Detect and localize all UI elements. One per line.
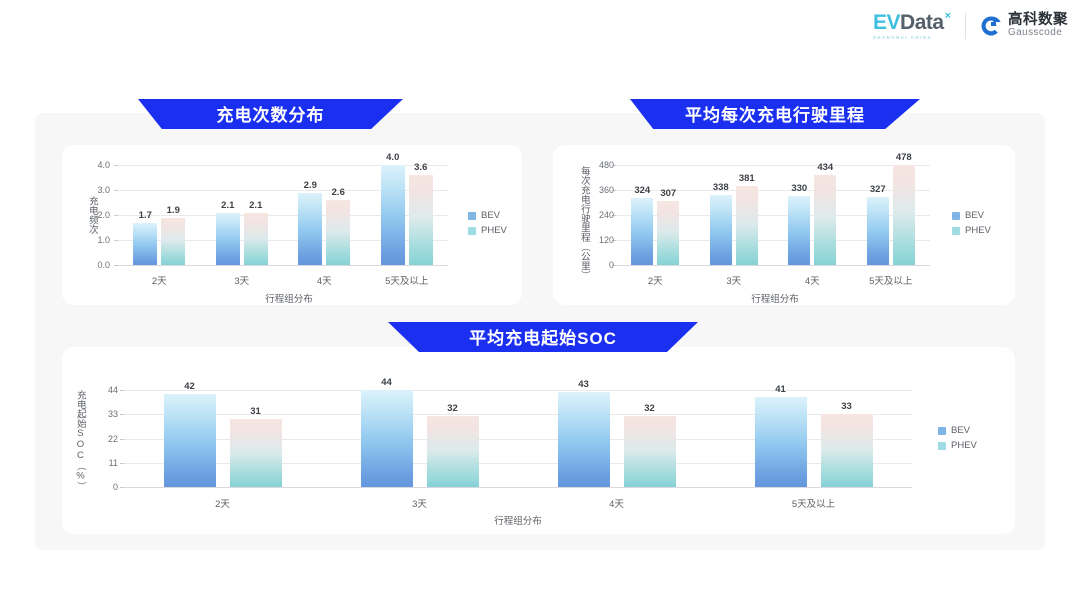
bar-value-label: 42 [184,381,195,392]
x-axis-category-label: 5天及以上 [385,273,428,287]
y-axis-tick-label: 120 [586,235,614,245]
y-axis-tick [114,190,118,191]
g-circle-icon [980,15,1002,37]
bar-value-label: 381 [739,173,755,184]
axis-baseline [118,265,448,266]
bar-bev-0[interactable] [133,223,157,266]
legend-label: PHEV [481,225,507,236]
bar-phev-0[interactable] [657,201,679,265]
bar-value-label: 338 [713,182,729,193]
y-axis-tick-label: 0.0 [76,260,110,270]
y-axis-title-line: （公里） [578,242,589,280]
bar-phev-3[interactable] [409,175,433,265]
y-axis-tick [120,390,124,391]
legend-swatch-phev-icon [952,227,960,235]
y-axis-tick-label: 11 [86,458,118,468]
x-axis-category-label: 4天 [317,273,332,287]
bar-phev-3[interactable] [821,414,873,487]
bar-value-label: 330 [791,183,807,194]
chart-legend: BEVPHEV [938,425,977,451]
x-axis-title: 行程组分布 [751,291,799,305]
bar-value-label: 32 [644,403,655,414]
bar-value-label: 32 [447,403,458,414]
gausscode-logo-en: Gausscode [1008,28,1068,39]
legend-swatch-phev-icon [468,227,476,235]
bar-phev-1[interactable] [736,186,758,265]
legend-item-bev[interactable]: BEV [952,210,991,221]
bar-bev-3[interactable] [381,165,405,265]
bar-value-label: 478 [896,152,912,163]
legend-item-phev[interactable]: PHEV [952,225,991,236]
legend-item-phev[interactable]: PHEV [938,440,977,451]
y-axis-tick-label: 0 [86,482,118,492]
evdata-logo-ev-text: EV [873,12,900,33]
bar-bev-1[interactable] [216,213,240,266]
y-axis-tick [114,215,118,216]
y-axis-tick [120,487,124,488]
legend-item-phev[interactable]: PHEV [468,225,507,236]
chart-title-banner-average-soc: 平均充电起始SOC [388,322,698,352]
bar-value-label: 44 [381,377,392,388]
bar-bev-2[interactable] [298,193,322,266]
y-axis-tick-label: 0 [586,260,614,270]
y-axis-tick [120,463,124,464]
bar-phev-2[interactable] [624,416,676,487]
y-axis-tick-label: 44 [86,385,118,395]
y-axis-tick [120,439,124,440]
bar-phev-1[interactable] [244,213,268,266]
bar-bev-2[interactable] [788,196,810,265]
chart-legend: BEVPHEV [468,210,507,236]
header-logo-bar: EV Data × SHANGHAI CHINA 高科数聚 Gausscode [873,12,1068,40]
x-axis-category-label: 4天 [805,273,820,287]
y-axis-tick-label: 4.0 [76,160,110,170]
x-axis-category-label: 2天 [152,273,167,287]
bar-bev-1[interactable] [361,390,413,487]
legend-label: BEV [481,210,500,221]
bar-phev-2[interactable] [326,200,350,265]
bar-bev-3[interactable] [755,397,807,487]
evdata-logo-wordmark: EV Data × [873,12,951,33]
bar-phev-2[interactable] [814,175,836,265]
bar-value-label: 1.9 [167,205,180,216]
legend-label: PHEV [965,225,991,236]
bar-phev-1[interactable] [427,416,479,487]
y-axis-title: 充电起始SOC（%） [74,390,85,480]
y-axis-tick-label: 480 [586,160,614,170]
logo-divider [965,13,966,39]
chart-title-text: 充电次数分布 [217,101,325,126]
y-axis-title: 充电频次 [86,183,97,247]
y-axis-title: 每次充电行驶里程（公里） [578,166,589,262]
bar-value-label: 4.0 [386,152,399,163]
y-axis-tick-label: 240 [586,210,614,220]
y-axis-title-line: 充电起始SOC [74,390,85,461]
legend-item-bev[interactable]: BEV [468,210,507,221]
bar-value-label: 1.7 [139,210,152,221]
bar-phev-0[interactable] [161,218,185,266]
bar-value-label: 2.9 [304,180,317,191]
bar-bev-0[interactable] [164,394,216,487]
chart-title-banner-charging-frequency: 充电次数分布 [138,99,403,129]
bar-value-label: 33 [841,401,852,412]
bar-bev-3[interactable] [867,197,889,265]
bar-value-label: 327 [870,184,886,195]
legend-item-bev[interactable]: BEV [938,425,977,436]
legend-swatch-bev-icon [468,212,476,220]
evdata-logo-data-text: Data [900,12,944,33]
y-axis-tick-label: 360 [586,185,614,195]
y-axis-title-line: 每次充电行驶里程 [578,166,589,242]
legend-label: PHEV [951,440,977,451]
axis-baseline [124,487,912,488]
y-axis-tick [120,414,124,415]
bar-bev-1[interactable] [710,195,732,265]
gausscode-logo: 高科数聚 Gausscode [980,13,1068,39]
bar-value-label: 2.6 [332,187,345,198]
bar-value-label: 307 [660,188,676,199]
evdata-logo-superscript-icon: × [945,11,951,22]
bar-bev-0[interactable] [631,198,653,266]
evdata-logo: EV Data × SHANGHAI CHINA [873,12,951,40]
bar-value-label: 31 [250,406,261,417]
y-axis-tick [114,265,118,266]
chart-title-banner-average-range: 平均每次充电行驶里程 [630,99,920,129]
bar-phev-3[interactable] [893,165,915,265]
gausscode-logo-cn: 高科数聚 [1008,13,1068,28]
legend-label: BEV [965,210,984,221]
evdata-logo-tagline: SHANGHAI CHINA [873,36,932,40]
chart-title-text: 平均充电起始SOC [469,324,617,349]
y-axis-tick [114,240,118,241]
gridline [616,165,930,166]
y-axis-title-line: （%） [74,461,85,491]
chart-card-average-range [553,145,1015,305]
bar-value-label: 41 [775,384,786,395]
y-axis-tick [114,165,118,166]
gridline [124,390,912,391]
bar-value-label: 43 [578,379,589,390]
x-axis-category-label: 3天 [726,273,741,287]
bar-value-label: 2.1 [221,200,234,211]
x-axis-category-label: 2天 [648,273,663,287]
x-axis-category-label: 5天及以上 [792,496,835,510]
bar-phev-0[interactable] [230,419,282,487]
legend-swatch-bev-icon [952,212,960,220]
x-axis-title: 行程组分布 [265,291,313,305]
x-axis-category-label: 5天及以上 [869,273,912,287]
bar-value-label: 3.6 [414,162,427,173]
bar-bev-2[interactable] [558,392,610,487]
y-axis-tick-label: 22 [86,434,118,444]
y-axis-tick-label: 33 [86,409,118,419]
x-axis-category-label: 2天 [215,496,230,510]
bar-value-label: 434 [817,162,833,173]
chart-card-charging-frequency [62,145,522,305]
gausscode-logo-text: 高科数聚 Gausscode [1008,13,1068,39]
legend-label: BEV [951,425,970,436]
legend-swatch-bev-icon [938,427,946,435]
x-axis-category-label: 4天 [609,496,624,510]
x-axis-category-label: 3天 [412,496,427,510]
x-axis-category-label: 3天 [234,273,249,287]
legend-swatch-phev-icon [938,442,946,450]
bar-value-label: 324 [634,185,650,196]
x-axis-title: 行程组分布 [494,513,542,527]
chart-legend: BEVPHEV [952,210,991,236]
bar-value-label: 2.1 [249,200,262,211]
chart-title-text: 平均每次充电行驶里程 [685,101,865,126]
axis-baseline [616,265,930,266]
